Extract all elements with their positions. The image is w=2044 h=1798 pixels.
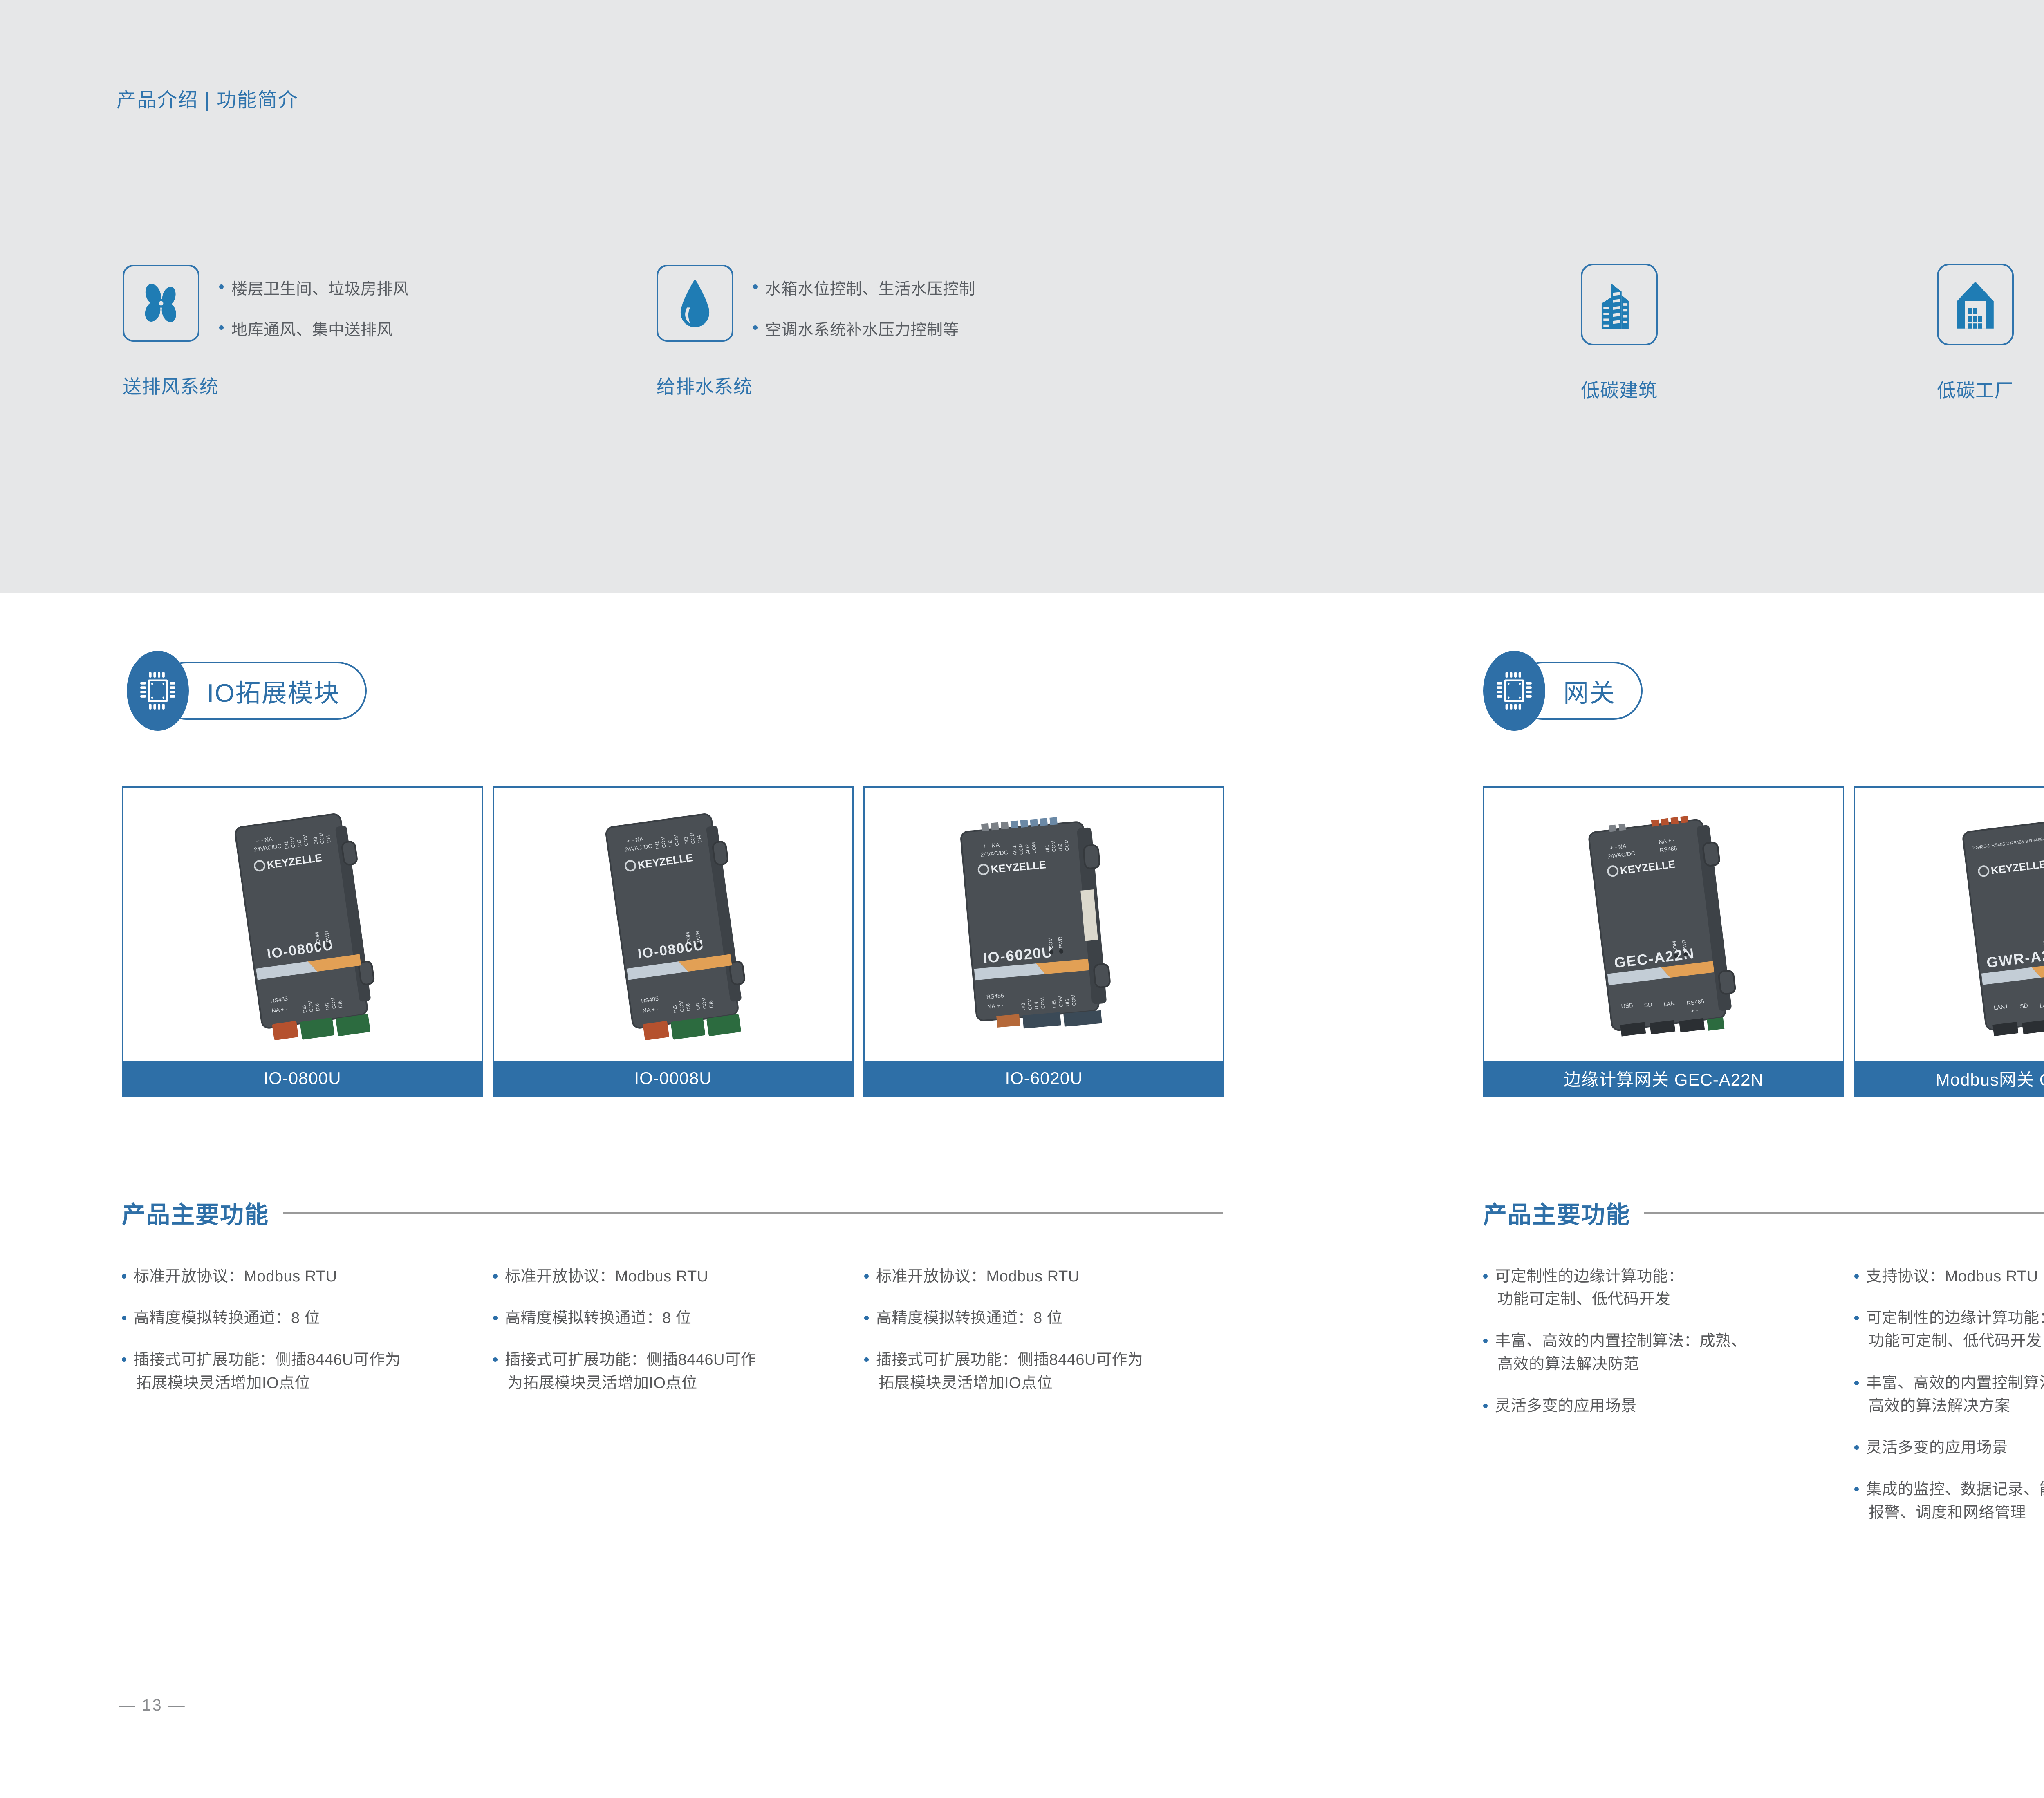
bullet-dot-icon xyxy=(864,1357,869,1362)
bullet-dot-icon xyxy=(122,1316,126,1320)
svg-text:SD: SD xyxy=(1643,1001,1652,1008)
feature-text: 标准开放协议：Modbus RTU xyxy=(134,1265,337,1288)
feature-column: 标准开放协议：Modbus RTU 高精度模拟转换通道：8 位 插接式可扩展功能… xyxy=(864,1265,1235,1413)
bullet-text: 水箱水位控制、生活水压控制 xyxy=(765,276,975,299)
feature-item: 高精度模拟转换通道：8 位 xyxy=(864,1307,1235,1330)
product-card[interactable]: + - NA 24VAC/DC NA + - RS485 KEYZELLE GE… xyxy=(1483,786,1844,1097)
device-photo-io-0800u: + - NA 24VAC/DC DI1 COM DI2 COM DI3 COM … xyxy=(188,802,417,1047)
device-photo-gwr-a25n: RS485-1 RS485-2 RS485-3 RS485-4 KEYZELLE… xyxy=(1920,802,2044,1047)
svg-text:COM: COM xyxy=(1070,994,1077,1006)
feature-item: 插接式可扩展功能：侧插8446U可作为拓展模块灵活增加IO点位 xyxy=(864,1348,1235,1394)
svg-text:UI4: UI4 xyxy=(1033,1001,1040,1010)
bullet-dot-icon xyxy=(122,1357,126,1362)
features-title: 产品主要功能 xyxy=(1483,1196,1630,1230)
bullet-item: 水箱水位控制、生活水压控制 xyxy=(753,276,975,299)
svg-text:COM: COM xyxy=(1063,839,1070,851)
bullet-dot-icon xyxy=(1854,1381,1859,1385)
bullet-item: 空调水系统补水压力控制等 xyxy=(753,317,975,340)
chip-icon xyxy=(139,669,177,712)
svg-text:UI3: UI3 xyxy=(1020,1003,1026,1011)
feature-column: 可定制性的边缘计算功能：功能可定制、低代码开发 丰富、高效的内置控制算法：成熟、… xyxy=(1483,1265,1854,1543)
product-image: + - NA 24VAC/DC AO1 COM AO2 COM UI1 COM … xyxy=(865,788,1223,1061)
svg-text:DI8: DI8 xyxy=(707,1000,714,1008)
feature-text: 插接式可扩展功能：侧插8446U可作为拓展模块灵活增加IO点位 xyxy=(134,1348,401,1394)
chip-icon-circle xyxy=(1483,651,1545,731)
svg-text:UI2: UI2 xyxy=(667,839,674,847)
office-building-icon xyxy=(1595,278,1643,331)
svg-text:DI1: DI1 xyxy=(283,841,290,849)
svg-text:+ -: + - xyxy=(1690,1007,1698,1014)
product-image: + - NA 24VAC/DC NA + - RS485 KEYZELLE GE… xyxy=(1484,788,1843,1061)
feature-item: 高精度模拟转换通道：8 位 xyxy=(122,1307,493,1330)
factory-icon xyxy=(1952,278,1998,331)
product-caption: Modbus网关 GWR-A25N xyxy=(1855,1061,2044,1096)
bullet-dot-icon xyxy=(1483,1274,1488,1279)
page-number-left: — 13 — xyxy=(119,1696,186,1715)
svg-text:DI1: DI1 xyxy=(654,841,661,849)
svg-text:LAN: LAN xyxy=(2039,1001,2044,1009)
features-heading-gateway: 产品主要功能 xyxy=(1483,1196,2044,1230)
bullet-text: 楼层卫生间、垃圾房排风 xyxy=(231,276,409,299)
svg-text:COM: COM xyxy=(1039,997,1046,1009)
svg-text:COM: COM xyxy=(1057,996,1064,1008)
feature-column: 支持协议：Modbus RTU 可定制性的边缘计算功能：功能可定制、低代码开发 … xyxy=(1854,1265,2044,1543)
feature-text: 可定制性的边缘计算功能：功能可定制、低代码开发 xyxy=(1495,1265,1684,1311)
svg-text:PWR: PWR xyxy=(1057,936,1063,948)
svg-text:DI8: DI8 xyxy=(336,1000,343,1008)
svg-text:DI4: DI4 xyxy=(696,835,703,843)
feature-item: 标准开放协议：Modbus RTU xyxy=(864,1265,1235,1288)
svg-text:UI6: UI6 xyxy=(1064,999,1071,1007)
feature-text: 高精度模拟转换通道：8 位 xyxy=(134,1307,320,1330)
water-drop-icon-frame xyxy=(657,265,733,342)
heading-rule xyxy=(1644,1212,2044,1214)
product-card[interactable]: + - NA 24VAC/DC AO1 COM AO2 COM UI1 COM … xyxy=(863,786,1224,1097)
chip-icon xyxy=(1495,669,1533,712)
svg-text:COM: COM xyxy=(1031,842,1037,854)
feature-item: 灵活多变的应用场景 xyxy=(1854,1436,2044,1459)
fan-icon-frame xyxy=(123,265,199,342)
spread-page: 产品介绍 | 功能简介 产品介绍 | 功能简介 送排风系统 楼层卫生间、垃圾房排… xyxy=(0,0,2044,1798)
svg-text:DI5: DI5 xyxy=(301,1005,308,1013)
feature-item: 灵活多变的应用场景 xyxy=(1483,1395,1854,1417)
feature-text: 标准开放协议：Modbus RTU xyxy=(505,1265,708,1288)
device-photo-io-0008u: + - NA 24VAC/DC DI1 COM UI2 COM DI3 COM … xyxy=(559,802,788,1047)
feature-text: 灵活多变的应用场景 xyxy=(1495,1395,1637,1417)
feature-text: 插接式可扩展功能：侧插8446U可作为拓展模块灵活增加IO点位 xyxy=(876,1348,1143,1394)
svg-text:DI6: DI6 xyxy=(685,1003,692,1012)
bullet-dot-icon xyxy=(122,1274,126,1279)
svg-text:AO2: AO2 xyxy=(1024,844,1031,854)
svg-text:AO1: AO1 xyxy=(1011,845,1018,855)
factory-icon-frame xyxy=(1937,264,2014,345)
feature-item: 支持协议：Modbus RTU xyxy=(1854,1265,2044,1288)
scenario-block-building: 低碳建筑 xyxy=(1581,264,1658,403)
svg-text:SD: SD xyxy=(2019,1002,2028,1010)
feature-item: 插接式可扩展功能：侧插8446U可作为拓展模块灵活增加IO点位 xyxy=(493,1348,864,1394)
svg-text:DI7: DI7 xyxy=(324,1002,331,1010)
product-cards-gateway: + - NA 24VAC/DC NA + - RS485 KEYZELLE GE… xyxy=(1483,786,2044,1097)
svg-text:COM: COM xyxy=(1050,840,1057,852)
heading-rule xyxy=(283,1212,1223,1214)
feature-text: 灵活多变的应用场景 xyxy=(1866,1436,2008,1459)
bullet-dot-icon xyxy=(1483,1339,1488,1343)
feature-text: 标准开放协议：Modbus RTU xyxy=(876,1265,1080,1288)
bullet-item: 楼层卫生间、垃圾房排风 xyxy=(219,276,409,299)
bullet-dot-icon xyxy=(1854,1487,1859,1491)
svg-text:UI5: UI5 xyxy=(1051,1000,1058,1008)
product-card[interactable]: RS485-1 RS485-2 RS485-3 RS485-4 KEYZELLE… xyxy=(1854,786,2044,1097)
running-head-left: 产品介绍 | 功能简介 xyxy=(117,84,298,112)
product-caption: IO-0800U xyxy=(123,1061,482,1096)
scenario-block-factory: 低碳工厂 xyxy=(1937,264,2014,403)
feature-item: 插接式可扩展功能：侧插8446U可作为拓展模块灵活增加IO点位 xyxy=(122,1348,493,1394)
scenario-caption: 低碳工厂 xyxy=(1937,376,2014,403)
svg-text:UI1: UI1 xyxy=(1044,844,1051,853)
chip-icon-circle xyxy=(127,651,189,731)
bullet-dot-icon xyxy=(1854,1445,1859,1450)
svg-text:UI2: UI2 xyxy=(1057,843,1063,851)
section-badge-io: IO拓展模块 xyxy=(127,651,367,731)
bullet-dot-icon xyxy=(493,1274,498,1279)
svg-text:COM: COM xyxy=(1047,937,1053,949)
office-building-icon-frame xyxy=(1581,264,1658,345)
features-title: 产品主要功能 xyxy=(122,1196,269,1230)
feature-text: 高精度模拟转换通道：8 位 xyxy=(505,1307,691,1330)
svg-text:COM: COM xyxy=(1026,998,1033,1010)
scenario-caption: 低碳建筑 xyxy=(1581,376,1658,403)
bullet-dot-icon xyxy=(219,325,224,330)
svg-text:DI2: DI2 xyxy=(296,839,303,847)
water-drop-icon xyxy=(672,277,717,330)
feature-item: 可定制性的边缘计算功能：功能可定制、低代码开发 xyxy=(1854,1307,2044,1352)
feature-item: 丰富、高效的内置控制算法：成熟、高效的算法解决方案 xyxy=(1854,1372,2044,1417)
product-caption: IO-0008U xyxy=(494,1061,852,1096)
fan-icon xyxy=(137,279,186,328)
svg-text:COM: COM xyxy=(1018,843,1024,855)
bullet-text: 地库通风、集中送排风 xyxy=(231,317,393,340)
bullet-text: 空调水系统补水压力控制等 xyxy=(765,317,959,340)
feature-text: 高精度模拟转换通道：8 位 xyxy=(876,1307,1062,1330)
application-bullets: 楼层卫生间、垃圾房排风 地库通风、集中送排风 xyxy=(219,276,409,358)
feature-item: 可定制性的边缘计算功能：功能可定制、低代码开发 xyxy=(1483,1265,1854,1311)
bullet-dot-icon xyxy=(1483,1404,1488,1408)
product-image: + - NA 24VAC/DC DI1 COM DI2 COM DI3 COM … xyxy=(123,788,482,1061)
feature-text: 可定制性的边缘计算功能：功能可定制、低代码开发 xyxy=(1866,1307,2044,1352)
section-badge-gateway: 网关 xyxy=(1483,651,1643,731)
feature-text: 插接式可扩展功能：侧插8446U可作为拓展模块灵活增加IO点位 xyxy=(505,1348,756,1394)
feature-item: 集成的监控、数据记录、能耗计量、报警、调度和网络管理 xyxy=(1854,1478,2044,1524)
bullet-dot-icon xyxy=(864,1316,869,1320)
bullet-dot-icon xyxy=(493,1357,498,1362)
feature-text: 集成的监控、数据记录、能耗计量、报警、调度和网络管理 xyxy=(1866,1478,2044,1524)
features-columns-io: 标准开放协议：Modbus RTU 高精度模拟转换通道：8 位 插接式可扩展功能… xyxy=(122,1265,1235,1413)
svg-text:DI7: DI7 xyxy=(695,1002,702,1010)
bullet-dot-icon xyxy=(1854,1316,1859,1320)
product-caption: 边缘计算网关 GEC-A22N xyxy=(1484,1061,1843,1096)
feature-item: 标准开放协议：Modbus RTU xyxy=(122,1265,493,1288)
feature-text: 支持协议：Modbus RTU xyxy=(1866,1265,2038,1288)
svg-text:DI5: DI5 xyxy=(672,1005,679,1013)
svg-text:DI3: DI3 xyxy=(312,837,319,845)
bullet-dot-icon xyxy=(493,1316,498,1320)
bullet-dot-icon xyxy=(753,284,758,289)
bullet-dot-icon xyxy=(753,325,758,330)
device-photo-gec-a22n: + - NA 24VAC/DC NA + - RS485 KEYZELLE GE… xyxy=(1549,802,1778,1047)
feature-text: 丰富、高效的内置控制算法：成熟、高效的算法解决方案 xyxy=(1866,1372,2044,1417)
features-heading-io: 产品主要功能 xyxy=(122,1196,1223,1230)
feature-item: 丰富、高效的内置控制算法：成熟、高效的算法解决防范 xyxy=(1483,1330,1854,1375)
bullet-item: 地库通风、集中送排风 xyxy=(219,317,409,340)
svg-text:DI6: DI6 xyxy=(314,1003,321,1012)
feature-column: 标准开放协议：Modbus RTU 高精度模拟转换通道：8 位 插接式可扩展功能… xyxy=(122,1265,493,1413)
product-image: RS485-1 RS485-2 RS485-3 RS485-4 KEYZELLE… xyxy=(1855,788,2044,1061)
section-badge-label: IO拓展模块 xyxy=(207,672,340,709)
section-badge-label: 网关 xyxy=(1563,672,1616,709)
application-caption: 给排水系统 xyxy=(657,372,753,399)
product-cards-io: + - NA 24VAC/DC DI1 COM DI2 COM DI3 COM … xyxy=(122,786,1224,1097)
product-caption: IO-6020U xyxy=(865,1061,1223,1096)
application-block-ventilation: 送排风系统 楼层卫生间、垃圾房排风 地库通风、集中送排风 xyxy=(123,265,219,399)
bullet-dot-icon xyxy=(1854,1274,1859,1279)
product-card[interactable]: + - NA 24VAC/DC DI1 COM UI2 COM DI3 COM … xyxy=(493,786,854,1097)
features-columns-gateway: 可定制性的边缘计算功能：功能可定制、低代码开发 丰富、高效的内置控制算法：成熟、… xyxy=(1483,1265,2044,1543)
application-block-water: 给排水系统 水箱水位控制、生活水压控制 空调水系统补水压力控制等 xyxy=(657,265,753,399)
application-caption: 送排风系统 xyxy=(123,372,219,399)
product-card[interactable]: + - NA 24VAC/DC DI1 COM DI2 COM DI3 COM … xyxy=(122,786,483,1097)
application-bullets: 水箱水位控制、生活水压控制 空调水系统补水压力控制等 xyxy=(753,276,975,358)
feature-item: 高精度模拟转换通道：8 位 xyxy=(493,1307,864,1330)
bullet-dot-icon xyxy=(219,284,224,289)
product-image: + - NA 24VAC/DC DI1 COM UI2 COM DI3 COM … xyxy=(494,788,852,1061)
svg-text:LAN: LAN xyxy=(1663,1000,1675,1008)
bullet-dot-icon xyxy=(864,1274,869,1279)
svg-text:DI3: DI3 xyxy=(683,837,690,845)
feature-text: 丰富、高效的内置控制算法：成熟、高效的算法解决防范 xyxy=(1495,1330,1747,1375)
feature-column: 标准开放协议：Modbus RTU 高精度模拟转换通道：8 位 插接式可扩展功能… xyxy=(493,1265,864,1413)
device-photo-io-6020u: + - NA 24VAC/DC AO1 COM AO2 COM UI1 COM … xyxy=(921,797,1167,1051)
feature-item: 标准开放协议：Modbus RTU xyxy=(493,1265,864,1288)
svg-text:DI4: DI4 xyxy=(325,835,332,843)
